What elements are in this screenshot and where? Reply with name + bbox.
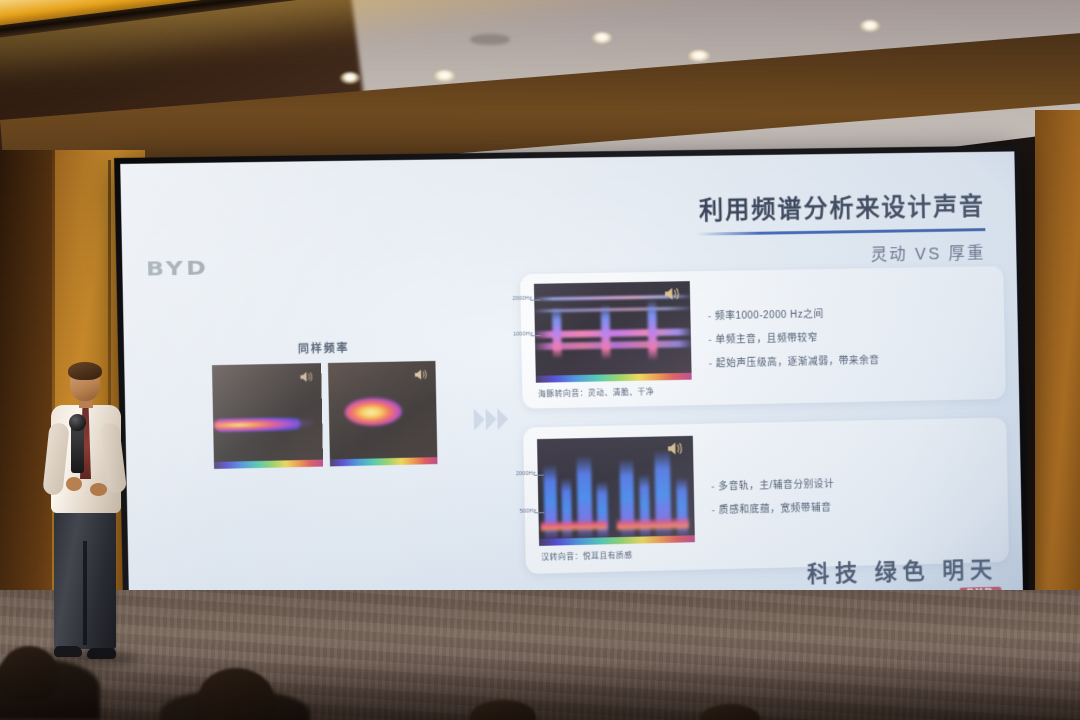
- bullet-item: 多音轨，主/辅音分别设计: [711, 471, 994, 492]
- presenter-hand: [90, 483, 107, 496]
- presenter-leg-gap: [83, 541, 87, 645]
- axis-tick-label: 2000Hz: [505, 295, 533, 301]
- comparison-grid: 男喇叭 - 灵动 男喇叭 - 厚重: [212, 361, 438, 477]
- spectral-burst: [647, 299, 657, 360]
- bullet-item: 起始声压级高，逐渐减弱，带来余音: [709, 349, 992, 369]
- slogan-chinese: 科技 绿色 明天: [805, 551, 998, 589]
- spectrogram-thumb: 男喇叭 - 灵动: [212, 363, 323, 477]
- title-underline: [697, 228, 986, 235]
- spectrogram-thumb-image: [327, 361, 437, 466]
- spectrogram-colorbar: [536, 372, 692, 382]
- spectral-low-band: [617, 517, 689, 531]
- speaker-icon: [413, 368, 428, 381]
- page-title: 利用频谱分析来设计声音: [696, 187, 985, 227]
- microphone-head: [69, 414, 86, 431]
- ceiling-downlight: [434, 70, 455, 82]
- byd-logo: BYD: [146, 257, 209, 280]
- bullet-list: 多音轨，主/辅音分别设计 质感和底蕴，宽频带辅音: [693, 462, 994, 525]
- axis-tick-label: 500Hz: [509, 508, 537, 515]
- presenter: [30, 365, 138, 665]
- bullet-item: 质感和底蕴，宽频带辅音: [712, 494, 995, 515]
- comparison-panel: 同样频率 男喇叭: [212, 338, 438, 477]
- bullet-list: 频率1000-2000 Hz之间 单频主音，且频带较窄 起始声压级高，逐渐减弱，…: [690, 293, 992, 378]
- triple-chevron-right-icon: [474, 408, 509, 430]
- projection-screen: BYD 利用频谱分析来设计声音 灵动 VS 厚重 同样频率: [114, 145, 1029, 645]
- axis-tick: [530, 299, 540, 300]
- screen-surface: BYD 利用频谱分析来设计声音 灵动 VS 厚重 同样频率: [120, 151, 1023, 639]
- conference-room-scene: BYD 利用频谱分析来设计声音 灵动 VS 厚重 同样频率: [0, 0, 1080, 720]
- title-block: 利用频谱分析来设计声音 灵动 VS 厚重: [696, 187, 986, 268]
- ceiling-downlight: [688, 50, 710, 62]
- spectral-low-band: [541, 519, 608, 531]
- presenter-hair: [68, 362, 102, 380]
- spectrogram-thumb: 男喇叭 - 厚重: [327, 361, 437, 474]
- spectrogram-thumb-image: [212, 363, 323, 469]
- axis-tick-label: 1000Hz: [505, 331, 533, 337]
- spectrogram-colorbar: [214, 460, 323, 469]
- ceiling-downlight: [592, 32, 612, 44]
- axis-tick: [531, 335, 541, 336]
- presenter-shoe: [87, 648, 116, 659]
- speaker-icon: [666, 440, 684, 455]
- wall-right-wood-panel: [1035, 110, 1080, 670]
- axis-tick-label: 2000Hz: [508, 470, 536, 477]
- bullet-item: 频率1000-2000 Hz之间: [708, 302, 991, 322]
- spectrogram-colorbar: [329, 457, 437, 466]
- page-subtitle: 灵动 VS 厚重: [697, 238, 986, 267]
- spectrogram-image: [534, 281, 692, 383]
- spectral-burst: [552, 307, 562, 359]
- bullet-item: 单频主音，且频带较窄: [708, 325, 991, 345]
- presenter-hand: [66, 477, 82, 491]
- spectral-blob: [344, 397, 402, 426]
- spectrogram-image: [537, 435, 695, 545]
- ceiling-vent: [470, 34, 510, 45]
- spectrogram-block: 2000Hz 500Hz 汉转向音：悦耳且有质感: [537, 435, 695, 562]
- speaker-icon: [298, 370, 313, 383]
- analysis-card: 2000Hz 1000Hz 海豚转向音：灵动、清脆、干净 频率1000-2000…: [520, 266, 1006, 409]
- ceiling-downlight: [340, 72, 360, 84]
- spectrogram-block: 2000Hz 1000Hz 海豚转向音：灵动、清脆、干净: [534, 281, 692, 399]
- presenter-shoe: [54, 646, 82, 657]
- presentation-slide: BYD 利用频谱分析来设计声音 灵动 VS 厚重 同样频率: [120, 151, 1023, 639]
- spectrogram-caption: 海豚转向音：灵动、清脆、干净: [536, 385, 692, 399]
- spectral-burst: [601, 304, 611, 359]
- spectrogram-caption: 汉转向音：悦耳且有质感: [539, 548, 695, 563]
- audience-head: [0, 646, 58, 700]
- ceiling-downlight: [860, 20, 880, 32]
- speaker-icon: [663, 286, 681, 301]
- spectral-blob: [215, 417, 301, 432]
- comparison-panel-heading: 同样频率: [212, 338, 436, 358]
- analysis-card: 2000Hz 500Hz 汉转向音：悦耳且有质感 多音轨，主/辅音分别设计 质感…: [523, 417, 1009, 574]
